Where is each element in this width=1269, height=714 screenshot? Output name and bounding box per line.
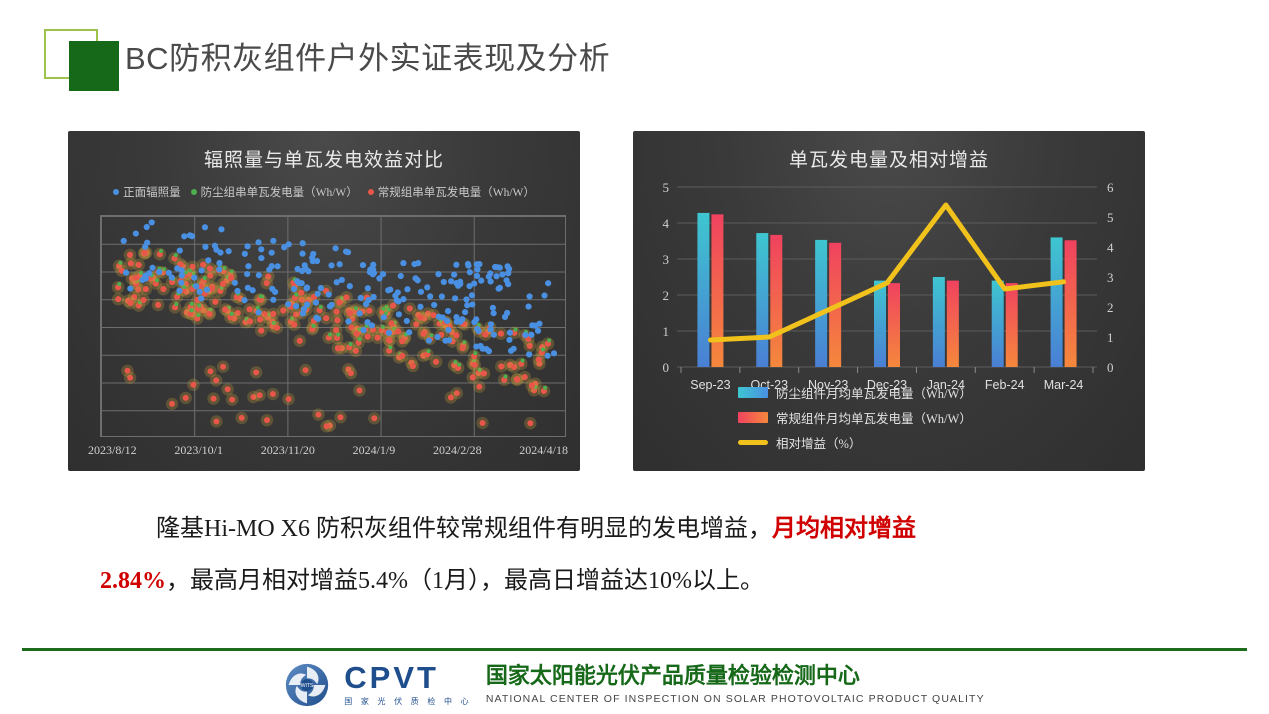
svg-text:3: 3 <box>1107 270 1114 285</box>
legend-item-conventional-monthly: 常规组件月均单瓦发电量（Wh/W） <box>738 408 1068 427</box>
svg-text:4: 4 <box>1107 240 1114 255</box>
right-chart-legend: 防尘组件月均单瓦发电量（Wh/W） 常规组件月均单瓦发电量（Wh/W） 相对增益… <box>738 383 1068 452</box>
legend-item-irradiance: 正面辐照量 <box>113 184 181 200</box>
footer-chinese-name: 国家太阳能光伏产品质量检验检测中心 <box>486 664 985 688</box>
legend-label: 相对增益（%） <box>776 433 861 452</box>
summary-text-a: 隆基Hi-MO X6 防积灰组件较常规组件有明显的发电增益， <box>156 516 772 542</box>
footer-names: 国家太阳能光伏产品质量检验检测中心 NATIONAL CENTER OF INS… <box>486 664 985 705</box>
legend-label: 常规组件月均单瓦发电量（Wh/W） <box>776 408 972 427</box>
page-title: BC防积灰组件户外实证表现及分析 <box>125 33 610 78</box>
left-chart-title: 辐照量与单瓦发电效益对比 <box>68 131 580 172</box>
left-chart-legend: 正面辐照量 防尘组串单瓦发电量（Wh/W） 常规组串单瓦发电量（Wh/W） <box>68 184 580 200</box>
svg-text:WITS: WITS <box>301 682 314 688</box>
svg-text:0: 0 <box>663 360 670 375</box>
xtick-label: 2023/8/12 <box>88 443 137 458</box>
svg-text:1: 1 <box>663 324 670 339</box>
cpvt-wordmark: CPVT 国 家 光 伏 质 检 中 心 <box>344 662 472 707</box>
svg-text:5: 5 <box>1107 210 1114 225</box>
legend-dot-icon <box>113 189 119 195</box>
legend-label: 常规组串单瓦发电量（Wh/W） <box>378 184 535 200</box>
legend-swatch-icon <box>738 387 768 398</box>
legend-dot-icon <box>368 189 374 195</box>
legend-label: 防尘组件月均单瓦发电量（Wh/W） <box>776 383 972 402</box>
legend-line-icon <box>738 440 768 445</box>
xtick-label: 2023/11/20 <box>261 443 315 458</box>
svg-text:Sep-23: Sep-23 <box>690 378 730 392</box>
footer-english-name: NATIONAL CENTER OF INSPECTION ON SOLAR P… <box>486 693 985 705</box>
summary-line-1: 隆基Hi-MO X6 防积灰组件较常规组件有明显的发电增益，月均相对增益 <box>100 503 1170 555</box>
cpvt-brand-subtext: 国 家 光 伏 质 检 中 心 <box>344 696 472 707</box>
svg-text:5: 5 <box>663 180 670 195</box>
summary-paragraph: 隆基Hi-MO X6 防积灰组件较常规组件有明显的发电增益，月均相对增益 2.8… <box>100 503 1170 607</box>
svg-text:3: 3 <box>663 252 670 267</box>
svg-text:2: 2 <box>1107 300 1114 315</box>
scatter-points-layer <box>100 215 566 437</box>
left-chart-panel: 辐照量与单瓦发电效益对比 正面辐照量 防尘组串单瓦发电量（Wh/W） 常规组串单… <box>68 131 580 471</box>
summary-highlight-b: 2.84% <box>100 568 166 594</box>
xtick-label: 2023/10/1 <box>174 443 223 458</box>
legend-label: 正面辐照量 <box>123 184 181 200</box>
footer-divider <box>22 648 1247 651</box>
svg-text:2: 2 <box>663 288 670 303</box>
summary-text-b: ，最高月相对增益5.4%（1月），最高日增益达10%以上。 <box>166 568 764 594</box>
xtick-label: 2024/4/18 <box>519 443 568 458</box>
summary-line-2: 2.84%，最高月相对增益5.4%（1月），最高日增益达10%以上。 <box>100 555 1170 607</box>
right-chart-panel: 单瓦发电量及相对增益 0123450123456Sep-23Oct-23Nov-… <box>633 131 1145 471</box>
legend-item-dustproof: 防尘组串单瓦发电量（Wh/W） <box>191 184 358 200</box>
footer: WITS CPVT 国 家 光 伏 质 检 中 心 国家太阳能光伏产品质量检验检… <box>0 655 1269 714</box>
legend-item-dustproof-monthly: 防尘组件月均单瓦发电量（Wh/W） <box>738 383 1068 402</box>
legend-item-relative-gain: 相对增益（%） <box>738 433 1068 452</box>
title-decoration <box>44 29 136 91</box>
legend-swatch-icon <box>738 412 768 423</box>
summary-highlight-a: 月均相对增益 <box>772 516 916 542</box>
legend-dot-icon <box>191 189 197 195</box>
cpvt-brand-text: CPVT <box>344 662 472 693</box>
svg-text:6: 6 <box>1107 180 1114 195</box>
bar-line-layer: 0123450123456Sep-23Oct-23Nov-23Dec-23Jan… <box>633 179 1145 399</box>
left-chart-xaxis: 2023/8/12 2023/10/1 2023/11/20 2024/1/9 … <box>88 443 568 458</box>
cpvt-swirl-logo-icon: WITS <box>284 662 330 708</box>
svg-text:1: 1 <box>1107 330 1114 345</box>
xtick-label: 2024/1/9 <box>353 443 396 458</box>
legend-label: 防尘组串单瓦发电量（Wh/W） <box>201 184 358 200</box>
scatter-plot <box>100 215 566 437</box>
legend-item-conventional: 常规组串单瓦发电量（Wh/W） <box>368 184 535 200</box>
svg-text:0: 0 <box>1107 360 1114 375</box>
right-chart-title: 单瓦发电量及相对增益 <box>633 131 1145 172</box>
xtick-label: 2024/2/28 <box>433 443 482 458</box>
decor-square-filled <box>69 41 119 91</box>
svg-text:4: 4 <box>663 216 670 231</box>
